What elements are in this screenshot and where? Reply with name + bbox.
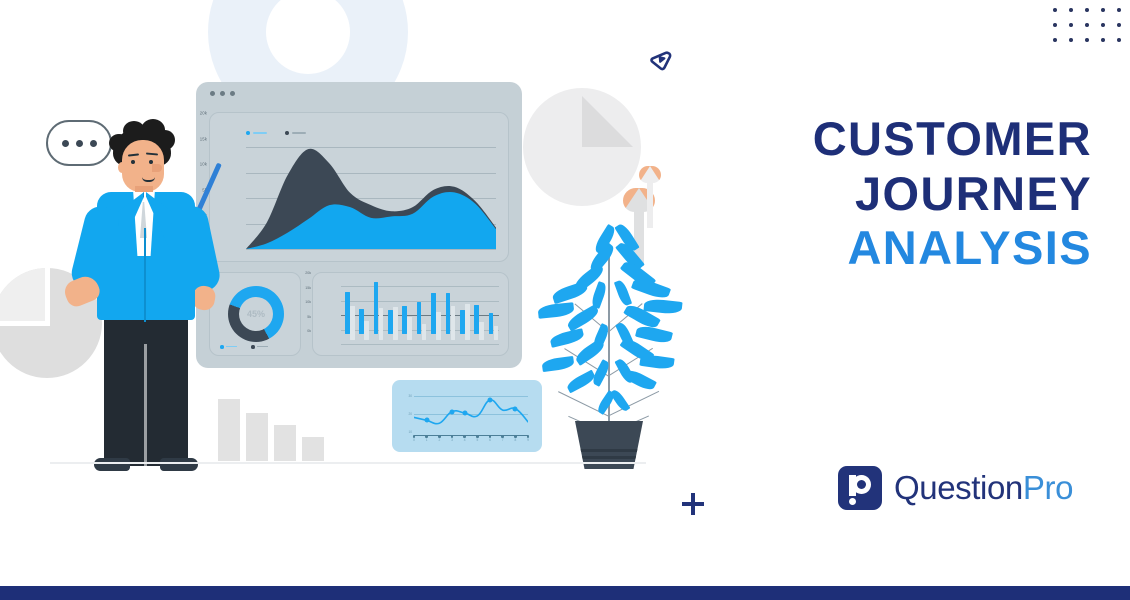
plant-leaf (614, 279, 632, 307)
bar-grey (407, 317, 412, 340)
plant-leaf (551, 281, 589, 304)
character-blazer-seam (144, 228, 146, 322)
x-axis-tick-label: 6 (489, 438, 491, 442)
y-axis-tick-label: 20k (305, 271, 311, 275)
bar-blue (489, 313, 494, 334)
line-chart-card: 302010 0123456789 (392, 380, 542, 452)
x-axis-tick-label: 5 (476, 438, 478, 442)
background-bar (274, 425, 296, 461)
area-chart-panel: 20k15k10k5k0k (209, 112, 509, 262)
line-chart-plot (414, 392, 528, 436)
questionpro-logo-mark-icon (838, 466, 882, 510)
bar-group (474, 286, 479, 344)
grid-dot (1117, 8, 1121, 12)
legend-dot-icon (285, 131, 289, 135)
plant-leaf (541, 356, 574, 372)
speech-bubble-dots-icon (48, 122, 110, 164)
legend-line-icon (292, 132, 306, 134)
bar-blue (388, 310, 393, 334)
grid-dot (1085, 38, 1089, 42)
bar-chart-y-axis: 20k15k10k5k0k (296, 273, 313, 331)
legend-item-series-a (246, 131, 267, 135)
grid-dot (1053, 38, 1057, 42)
character-legs (104, 308, 188, 466)
bar-chart-panel: 20k15k10k5k0k (312, 272, 509, 356)
character-shoe-right (160, 458, 198, 471)
brand-name-part2: Pro (1023, 469, 1073, 506)
plant-leaf (615, 321, 635, 349)
character-ear (118, 162, 126, 173)
grid-dot (1117, 38, 1121, 42)
bar-group (431, 286, 436, 344)
poster-canvas: 20k15k10k5k0k 45% (0, 0, 1130, 600)
pie-wedge (582, 96, 633, 147)
y-axis-tick-label: 30 (408, 394, 412, 398)
plant-leaf (639, 354, 674, 371)
grid-dot (1069, 38, 1073, 42)
legend-line-icon (257, 346, 268, 347)
potted-plant-illustration (528, 228, 688, 468)
bar-grey (436, 312, 441, 340)
data-point (462, 411, 467, 416)
x-axis-tick-label: 4 (464, 438, 466, 442)
plant-leaf (549, 328, 585, 348)
bar-grey (364, 321, 369, 340)
area-chart-legend (246, 131, 306, 135)
dot-grid-decoration (1053, 8, 1130, 53)
grid-dot (1101, 38, 1105, 42)
y-axis-tick-label: 5k (307, 315, 311, 319)
y-axis-tick-label: 10k (305, 300, 311, 304)
window-title-bar (196, 82, 522, 104)
grid-dot (1085, 23, 1089, 27)
x-axis-tick-label: 1 (426, 438, 428, 442)
area-chart-svg (246, 147, 496, 249)
grid-dot (1069, 23, 1073, 27)
bar-grey (479, 322, 484, 340)
grid-dot (1053, 23, 1057, 27)
bar-blue (345, 292, 350, 334)
plant-leaf (565, 370, 597, 394)
bar-blue (374, 282, 379, 334)
legend-item-series-b (251, 345, 268, 349)
x-axis-tick-label: 7 (502, 438, 504, 442)
bar-group (489, 286, 494, 344)
bar-blue (431, 293, 436, 334)
character-eye-left (131, 160, 135, 164)
character-head (122, 140, 164, 192)
data-point (424, 418, 429, 423)
title-line-3: ANALYSIS (692, 221, 1092, 276)
x-axis-tick-label: 2 (438, 438, 440, 442)
line-chart-x-axis: 0123456789 (414, 438, 528, 446)
bar-grey (422, 324, 427, 340)
legend-item-series-b (285, 131, 306, 135)
character-shoe-left (94, 458, 130, 471)
bar-group (460, 286, 465, 344)
legend-dot-icon (246, 131, 250, 135)
bar-blue (474, 305, 479, 334)
brand-name-part1: Question (894, 469, 1023, 506)
bottom-accent-bar (0, 586, 1130, 600)
x-axis-tick-label: 3 (451, 438, 453, 442)
y-axis-tick-label: 10 (408, 430, 412, 434)
plant-leaf (635, 324, 673, 345)
background-bar (302, 437, 324, 461)
questionpro-wordmark: QuestionPro (894, 469, 1073, 507)
page-title: CUSTOMER JOURNEY ANALYSIS (692, 112, 1092, 276)
speech-bubble (46, 120, 112, 166)
bar-blue (446, 293, 451, 334)
grid-dot (1069, 8, 1073, 12)
arrow-up-icon-small (638, 166, 662, 228)
legend-line-icon (253, 132, 267, 134)
y-axis-tick-label: 20 (408, 412, 412, 416)
x-axis-tick-label: 0 (413, 438, 415, 442)
line-chart-svg (414, 392, 528, 436)
plus-icon (682, 493, 704, 515)
grid-dot (1053, 8, 1057, 12)
bar-grey (350, 306, 355, 340)
bar-grey (465, 304, 470, 340)
bar-grey (494, 326, 499, 340)
presenter-character (40, 110, 240, 480)
play-triangle-icon (648, 48, 674, 74)
background-bar (246, 413, 268, 461)
bar-chart-plot (341, 286, 499, 344)
dashboard-window: 20k15k10k5k0k 45% (196, 82, 522, 368)
character-eyebrow-right (146, 152, 158, 155)
grid-dot (1117, 23, 1121, 27)
bar-chart-bars (341, 286, 499, 344)
legend-dot-icon (251, 345, 255, 349)
plant-leaf (537, 302, 574, 319)
bar-blue (417, 302, 422, 334)
grid-dot (1101, 8, 1105, 12)
x-axis-tick-label: 8 (514, 438, 516, 442)
bar-blue (402, 306, 407, 334)
bar-group (345, 286, 350, 344)
title-line-2: JOURNEY (692, 167, 1092, 222)
bar-group (374, 286, 379, 344)
bar-grey (393, 307, 398, 340)
bar-group (388, 286, 393, 344)
grid-dot (1101, 23, 1105, 27)
bar-blue (359, 309, 364, 334)
bar-grey (379, 308, 384, 340)
bar-group (446, 286, 451, 344)
bar-grey (451, 306, 456, 341)
data-point (450, 409, 455, 414)
character-nose (152, 164, 162, 172)
plant-leaf (590, 281, 608, 309)
gridline (341, 344, 499, 345)
y-axis-tick-label: 0k (307, 329, 311, 333)
area-chart-plot (246, 147, 496, 249)
character-eyebrow-left (128, 153, 139, 157)
bar-group (417, 286, 422, 344)
line-chart-y-axis: 302010 (400, 392, 412, 436)
gridline (246, 249, 496, 250)
floor-line (50, 462, 646, 464)
y-axis-tick-label: 15k (305, 286, 311, 290)
bar-blue (460, 310, 465, 334)
data-point (513, 406, 518, 411)
data-point (488, 397, 493, 402)
title-line-1: CUSTOMER (692, 112, 1092, 167)
grid-dot (1085, 8, 1089, 12)
bar-group (402, 286, 407, 344)
bar-group (359, 286, 364, 344)
questionpro-logo[interactable]: QuestionPro (838, 466, 1073, 510)
character-mouth (142, 177, 155, 182)
